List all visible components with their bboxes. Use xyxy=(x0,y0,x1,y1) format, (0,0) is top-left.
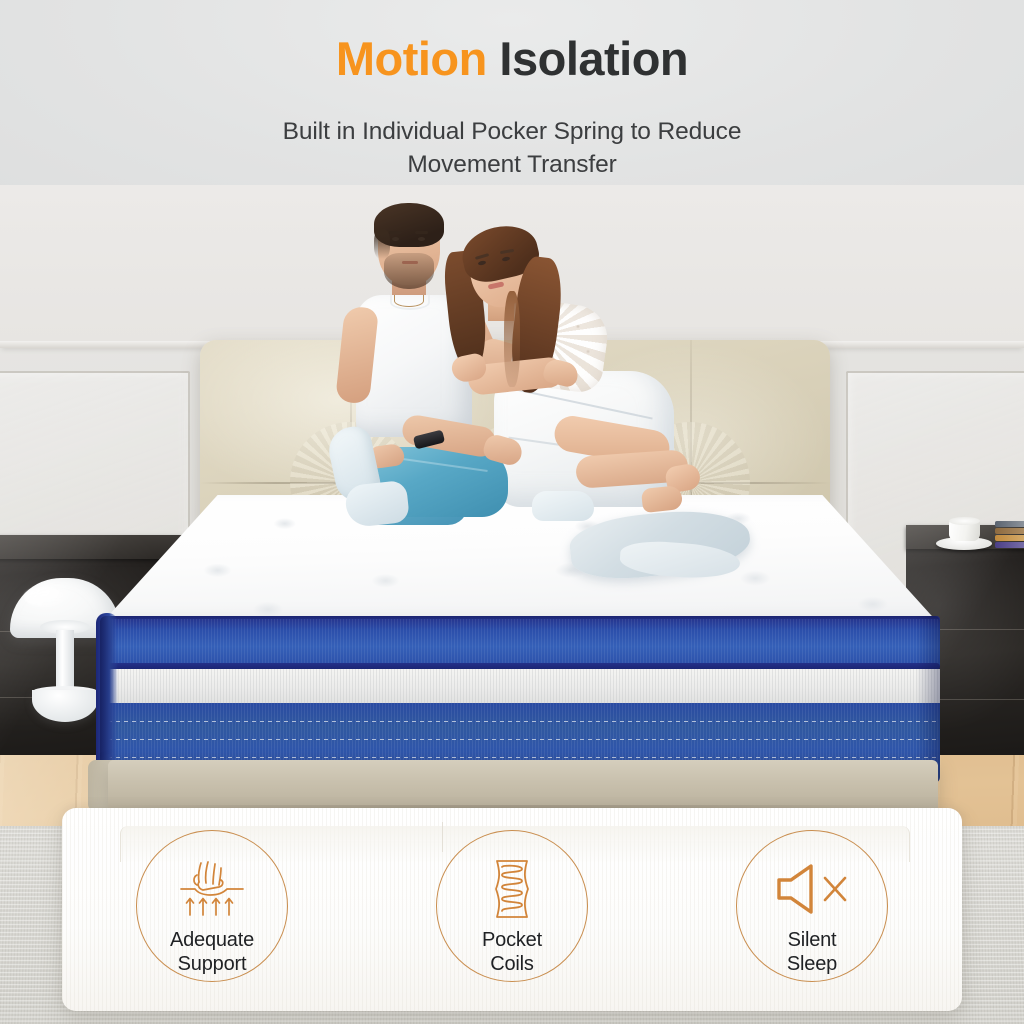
mattress-stitch-line xyxy=(100,721,940,722)
man-eyebrow xyxy=(415,231,428,234)
coffee-cup-rim xyxy=(949,517,980,525)
man-beard xyxy=(384,253,434,289)
hand-press-support-icon xyxy=(175,858,249,920)
feature-badges-card: Adequate Support Pocket Coils xyxy=(62,808,962,1011)
man-eye xyxy=(418,237,425,241)
badge-label: Adequate Support xyxy=(170,928,254,976)
page-subtitle: Built in Individual Pocker Spring to Red… xyxy=(0,116,1024,181)
feature-badge-list: Adequate Support Pocket Coils xyxy=(62,830,962,1000)
man-sock xyxy=(344,480,410,528)
man-mouth xyxy=(402,261,418,264)
mattress-stitch-line xyxy=(100,757,940,758)
muted-speaker-icon xyxy=(773,858,851,920)
page-subtitle-line2: Movement Transfer xyxy=(407,151,616,178)
man-necklace xyxy=(394,295,424,307)
mattress-fabric-texture xyxy=(100,619,940,669)
badge-label: Pocket Coils xyxy=(482,928,542,976)
woman-hair-strand xyxy=(504,291,520,387)
page-title-accent: Motion xyxy=(336,32,487,85)
man-hair-fade xyxy=(374,229,390,259)
book xyxy=(995,542,1024,548)
mattress xyxy=(100,495,940,760)
feature-badge-silent-sleep: Silent Sleep xyxy=(712,830,912,990)
book xyxy=(995,535,1024,541)
page-title: Motion Isolation xyxy=(0,34,1024,83)
mattress-stitch-line xyxy=(100,739,940,740)
mattress-right-edge-shade xyxy=(916,616,940,783)
stacked-books xyxy=(995,521,1024,549)
page-subtitle-line1: Built in Individual Pocker Spring to Red… xyxy=(283,118,742,145)
draped-cloth xyxy=(532,491,594,521)
mattress-left-edge-shade xyxy=(100,616,116,783)
badge-label: Silent Sleep xyxy=(787,928,837,976)
mattress-fabric-texture xyxy=(100,669,940,705)
feature-badge-pocket-coils: Pocket Coils xyxy=(412,830,612,990)
lamp-shade-highlight xyxy=(24,587,66,607)
man-eyebrow xyxy=(389,231,402,234)
man-eye xyxy=(392,237,399,241)
feature-badge-adequate-support: Adequate Support xyxy=(112,830,312,990)
product-marketing-image: Motion Isolation Built in Individual Poc… xyxy=(0,0,1024,1024)
book xyxy=(995,528,1024,534)
book xyxy=(995,521,1024,527)
page-title-rest: Isolation xyxy=(499,32,688,85)
mattress-quilt-pattern xyxy=(100,495,940,625)
pocket-coil-spring-icon xyxy=(488,858,536,920)
lamp-base xyxy=(32,690,98,722)
